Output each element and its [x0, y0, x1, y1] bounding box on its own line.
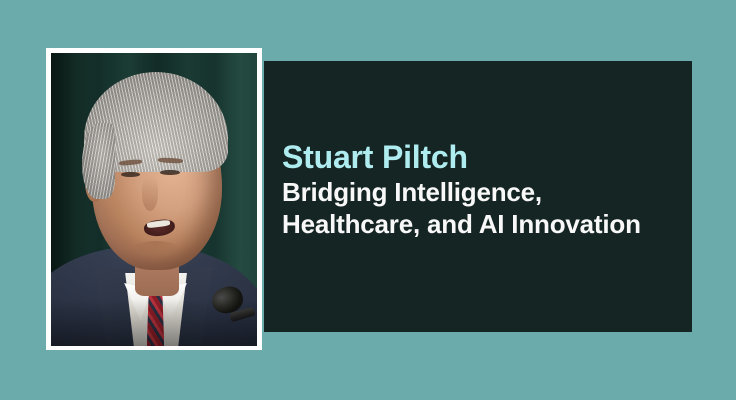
portrait-photo-card	[46, 48, 262, 350]
eye-right	[160, 170, 180, 176]
person-name: Stuart Piltch	[282, 139, 682, 175]
chin-shadow	[129, 241, 183, 264]
photo-subject-figure	[51, 53, 257, 346]
headline-panel: Stuart Piltch Bridging Intelligence, Hea…	[264, 61, 692, 332]
headline-text-block: Stuart Piltch Bridging Intelligence, Hea…	[282, 139, 682, 240]
photo-bottom-shadow	[51, 299, 257, 346]
portrait-photo	[51, 53, 257, 346]
banner-root: Stuart Piltch Bridging Intelligence, Hea…	[0, 0, 736, 400]
nose	[142, 176, 158, 211]
tagline-line-1: Bridging Intelligence,	[282, 176, 682, 208]
eye-left	[121, 172, 140, 178]
tagline-line-2: Healthcare, and AI Innovation	[282, 208, 682, 240]
hair-sideburn	[82, 123, 115, 199]
